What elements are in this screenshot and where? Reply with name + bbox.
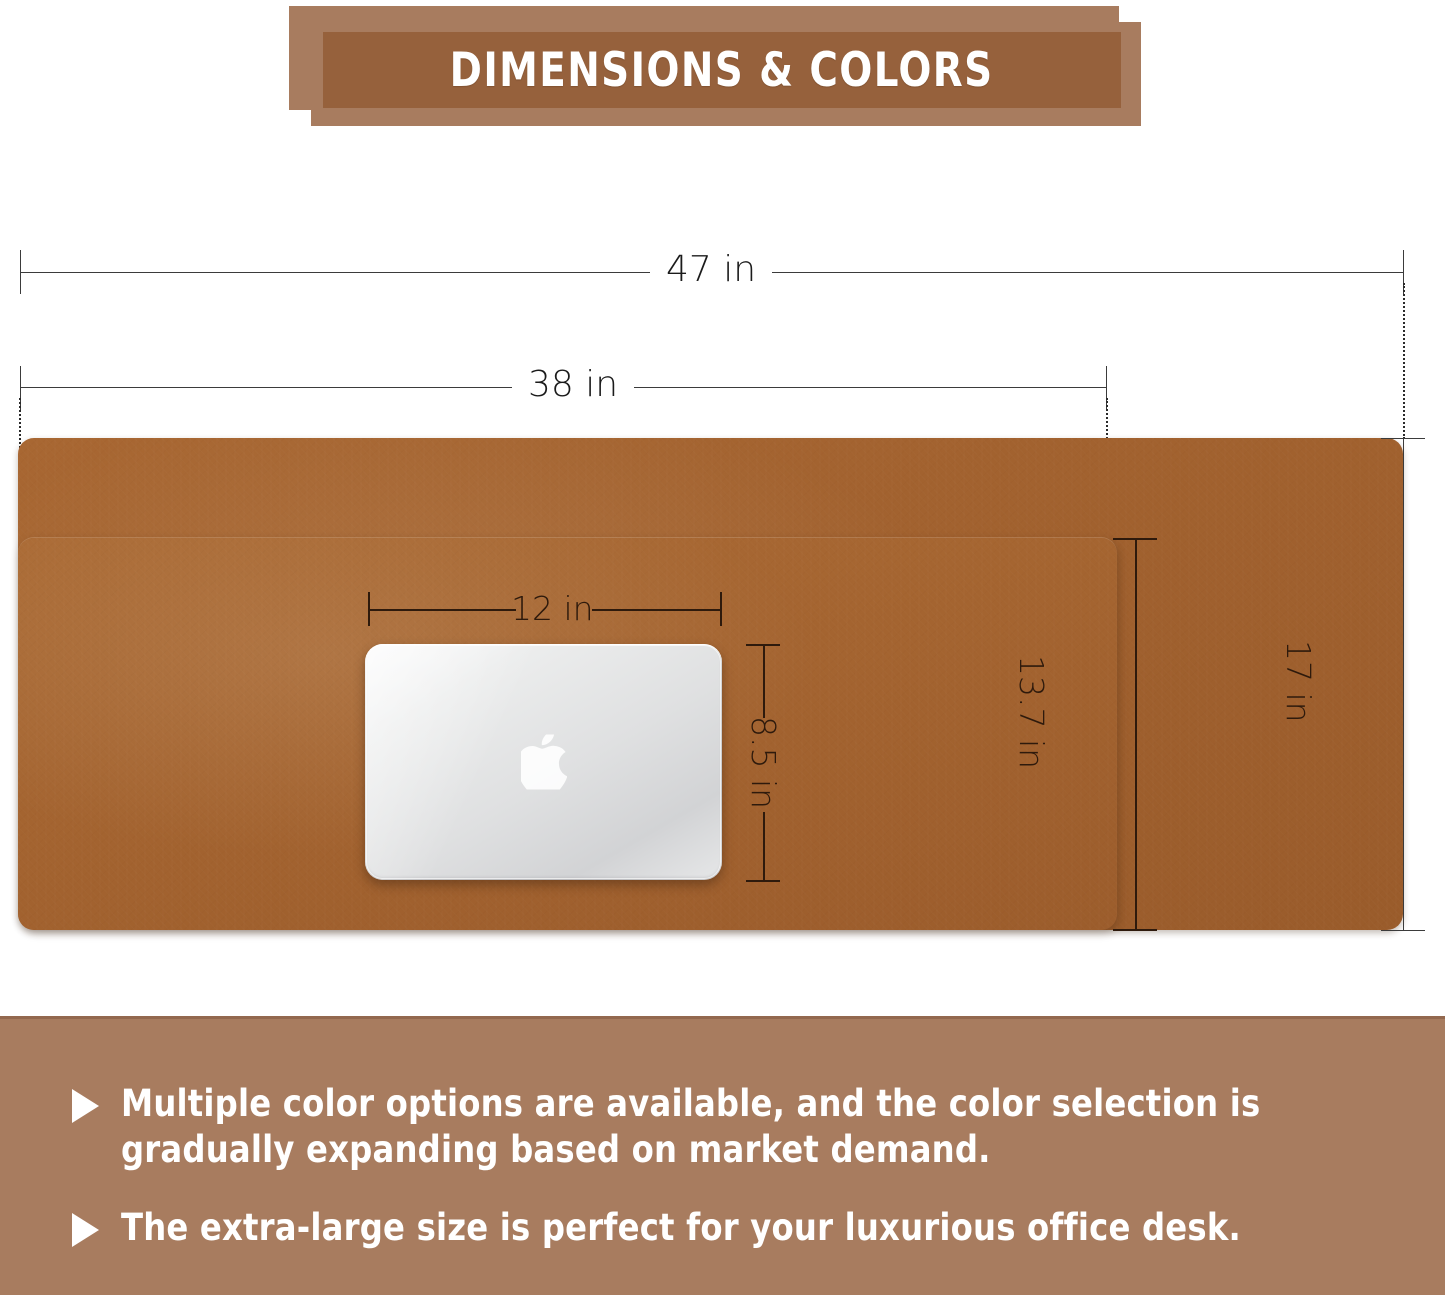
dimension-12in-cap-left [368,592,370,626]
dimension-17in-line [1403,438,1404,930]
dimension-47in-cap-left [20,250,21,294]
dimension-13-7in-line [1135,538,1137,930]
dimension-38in-label: 38 in [512,367,634,403]
infographic-canvas: DIMENSIONS & COLORS 47 in 38 in 17 in [0,0,1445,1292]
dimension-17in-cap-top [1381,438,1425,439]
header-banner: DIMENSIONS & COLORS [289,6,1149,128]
dimension-47in-label: 47 in [650,252,772,288]
feature-bullet-1-text: The extra-large size is perfect for your… [121,1205,1241,1251]
feature-bullet-0-text: Multiple color options are available, an… [121,1081,1364,1173]
dimension-17in-cap-bottom [1381,930,1425,931]
dimension-8-5in-cap-top [746,644,780,646]
page-title: DIMENSIONS & COLORS [450,43,994,98]
triangle-bullet-icon [72,1089,99,1123]
dimension-13-7in-cap-bottom [1113,929,1157,931]
header-banner-panel: DIMENSIONS & COLORS [323,32,1121,108]
dimension-12in-cap-right [720,592,722,626]
header-banner-frame: DIMENSIONS & COLORS [311,22,1141,126]
feature-banner: Multiple color options are available, an… [0,1016,1445,1295]
dimension-17in-label: 17 in [1282,640,1315,723]
dimension-12in-line-right [592,609,722,611]
feature-bullet-0: Multiple color options are available, an… [72,1081,1402,1173]
apple-logo-icon [521,735,567,790]
dimension-12in-line-left [368,609,516,611]
dimension-8-5in-line-top [763,644,765,718]
dimension-13-7in-cap-top [1113,538,1157,540]
dimension-8-5in-line-bottom [763,812,765,882]
dimension-8-5in-label: 8.5 in [747,716,780,809]
dimension-13-7in-label: 13.7 in [1015,655,1048,769]
guide-dotted-47in-right [1403,283,1405,439]
triangle-bullet-icon [72,1213,99,1247]
feature-bullet-1: The extra-large size is perfect for your… [72,1205,1402,1251]
dimension-8-5in-cap-bottom [746,880,780,882]
laptop-macbook [365,644,722,880]
dimension-12in-label: 12 in [511,592,594,625]
